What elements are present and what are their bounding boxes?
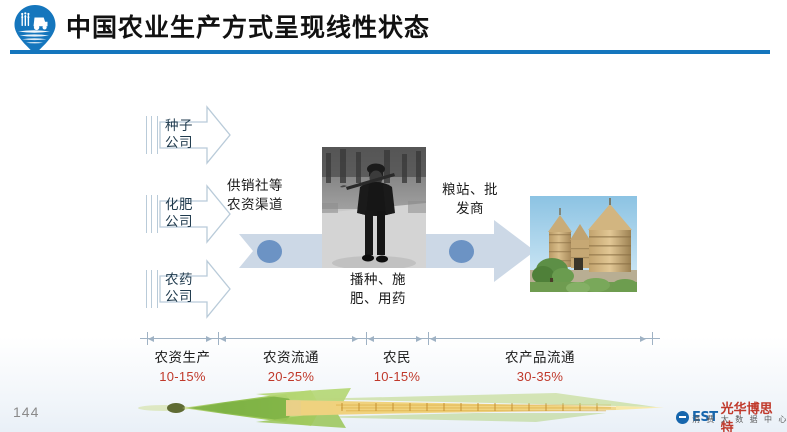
header-divider [10,50,770,54]
supplier-arrow-seed-company[interactable]: 种子公司 [146,104,232,166]
page-title: 中国农业生产方式呈现线性状态 [66,8,430,44]
supplier-label-line1: 农药 [165,272,193,287]
value-share-ruler: 农资生产 农资流通 农民 农产品流通 10-15% 20-25% 10-15% … [140,330,660,392]
supplier-label: 化肥公司 [165,196,209,230]
slide-header: 中国农业生产方式呈现线性状态 [0,0,787,58]
channel-label: 供销社等 农资渠道 [227,176,323,214]
page-number: 144 [13,404,39,420]
ruler-arrowhead-right [416,336,422,342]
arrow-tail-bars [146,195,158,233]
farming-activities-label: 播种、施 肥、用药 [325,270,431,308]
segment-label: 农资流通 [218,346,364,366]
ruler-arrowhead-right [352,336,358,342]
ruler-arrowhead-left [430,336,436,342]
grain-station-label-line1: 粮站、批 [442,182,498,197]
supplier-label: 种子公司 [165,117,209,151]
supplier-label: 农药公司 [165,271,209,305]
supplier-arrow-fertilizer-company[interactable]: 化肥公司 [146,183,232,245]
segment-label: 农民 [366,346,428,366]
supplier-label-line2: 公司 [165,214,193,229]
segment-value: 10-15% [366,369,428,384]
segment-value: 20-25% [218,369,364,384]
supplier-label-line2: 公司 [165,135,193,150]
farming-label-line2: 肥、用药 [350,291,406,306]
channel-label-line2: 农资渠道 [227,197,283,212]
ruler-tick [218,332,219,345]
ruler-tick [366,332,367,345]
farmer-walking-photo [322,147,426,268]
brand-tagline: 消 费 大 数 据 中 心 [692,414,787,425]
grain-storage-silos-photo [530,196,637,292]
corn-cob-illustration [136,386,666,430]
supplier-label-line1: 化肥 [165,197,193,212]
supplier-arrow-pesticide-company[interactable]: 农药公司 [146,258,232,320]
segment-label: 农产品流通 [428,346,652,366]
supplier-label-line1: 种子 [165,118,193,133]
grain-station-label-line2: 发商 [456,201,484,216]
channel-label-line1: 供销社等 [227,178,283,193]
ruler-tick [428,332,429,345]
supplier-label-line2: 公司 [165,289,193,304]
ruler-arrowhead-right [640,336,646,342]
ruler-tick [652,332,653,345]
grain-station-label: 粮站、批 发商 [428,180,512,218]
ruler-arrowhead-left [148,336,154,342]
arrow-tail-bars [146,270,158,308]
arrow-tail-bars [146,116,158,154]
ruler-arrowhead-left [368,336,374,342]
ruler-arrowhead-left [220,336,226,342]
best-circle-icon [676,411,689,424]
brand-logo: EST 光华博思特 消 费 大 数 据 中 心 [676,398,782,428]
farm-location-pin-icon [12,4,58,54]
segment-value: 30-35% [428,369,652,384]
segment-label: 农资生产 [147,346,218,366]
farming-label-line1: 播种、施 [350,272,406,287]
ruler-arrowhead-right [206,336,212,342]
segment-value: 10-15% [147,369,218,384]
flow-node-dot [449,240,474,263]
slide-canvas: 中国农业生产方式呈现线性状态 种子公司 化肥公司 农药公司 [0,0,787,432]
flow-node-dot [257,240,282,263]
